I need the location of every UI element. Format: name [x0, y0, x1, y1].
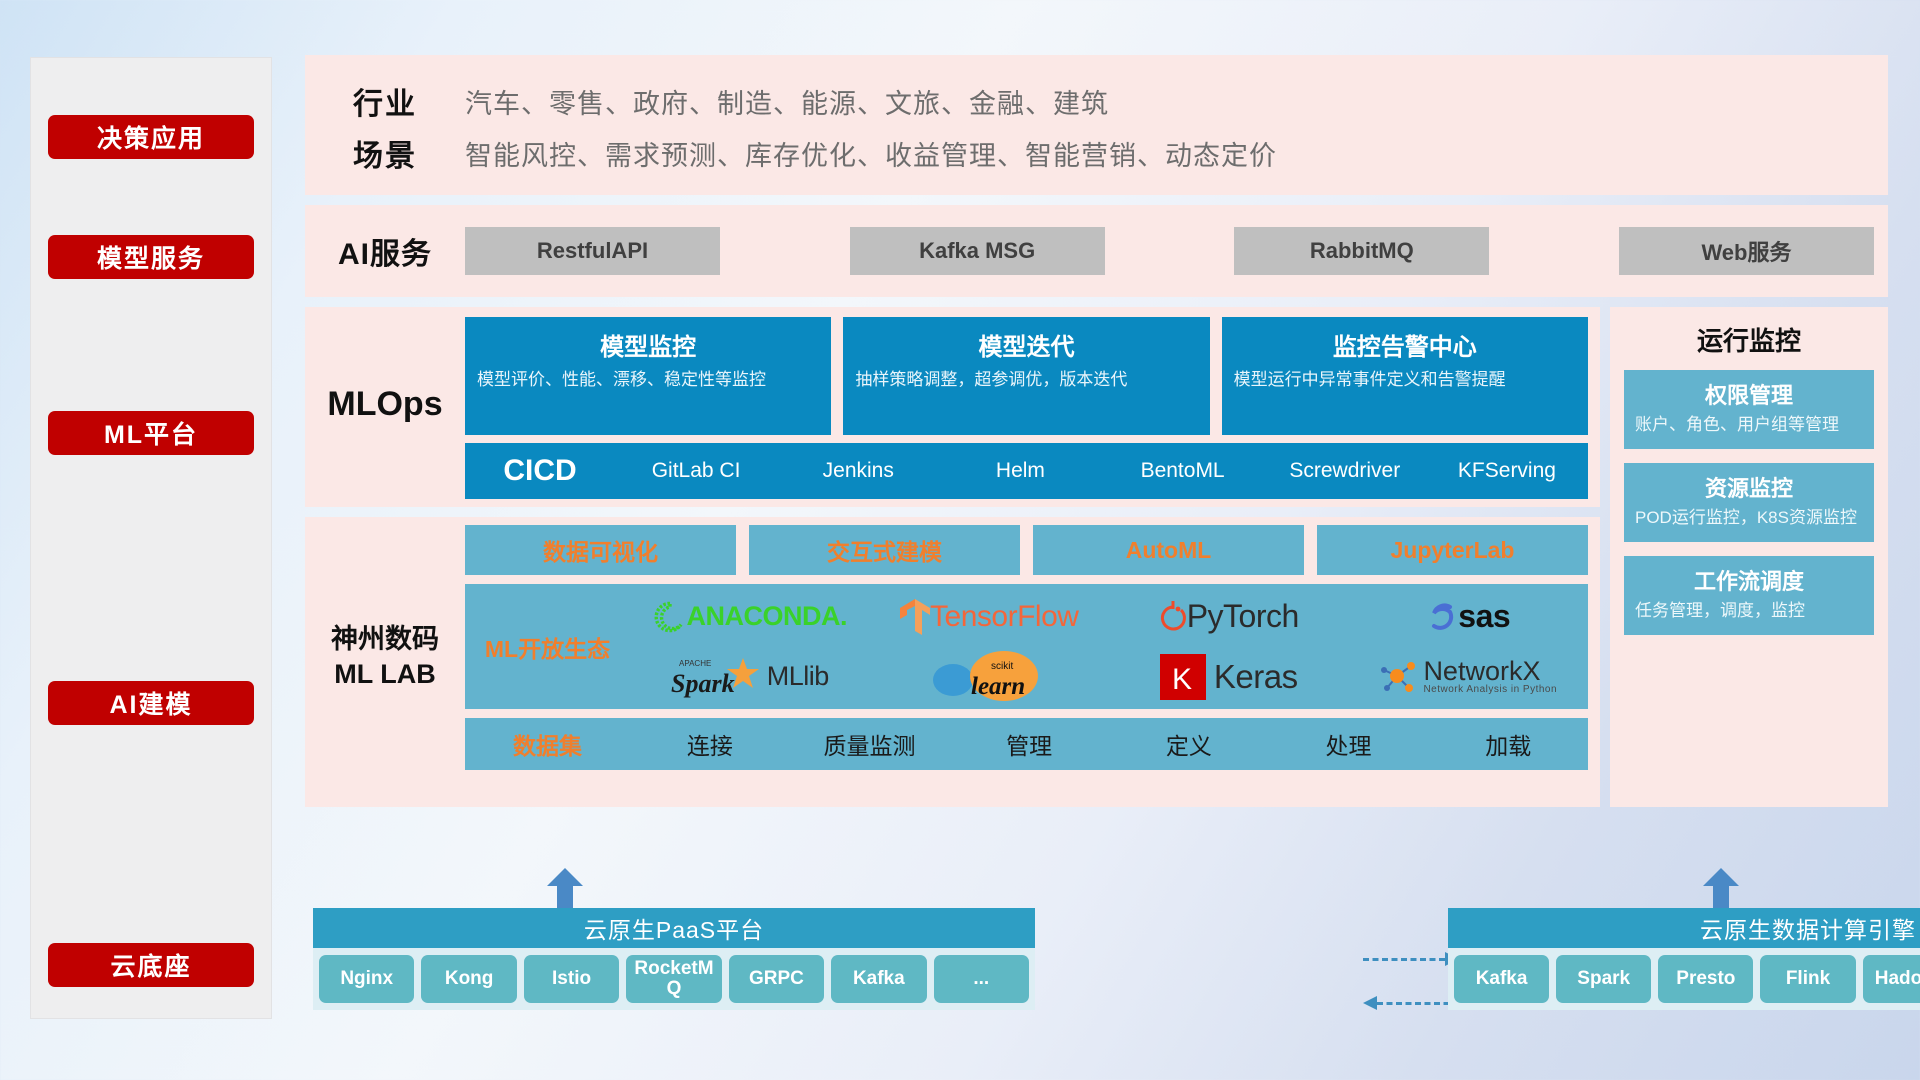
cicd-bar: CICD GitLab CI Jenkins Helm BentoML Scre…: [465, 443, 1588, 499]
rail-label: ML平台: [104, 415, 198, 451]
pytorch-logo: PyTorch: [1109, 587, 1349, 647]
ml-ecosystem-logos: ANACONDA. TensorFlow: [630, 587, 1588, 707]
cicd-title: CICD: [465, 454, 615, 488]
cloud-paas-items: Nginx Kong Istio RocketMQ GRPC Kafka ...: [313, 948, 1035, 1010]
ai-service-chip-web[interactable]: Web服务: [1619, 227, 1874, 275]
spark-mark-icon: APACHE Spark: [671, 654, 763, 700]
rail-label: AI建模: [109, 685, 192, 721]
data-chip-flink[interactable]: Flink: [1760, 955, 1855, 1003]
runtime-monitor-panel: 运行监控 权限管理 账户、角色、用户组等管理 资源监控 POD运行监控，K8S资…: [1610, 307, 1888, 807]
mllib-wordmark: MLlib: [767, 661, 829, 692]
networkx-tagline: Network Analysis in Python: [1423, 685, 1557, 696]
mlops-and-monitor-row: MLOps 模型监控 模型评价、性能、漂移、稳定性等监控 模型迭代 抽样策略调整…: [305, 307, 1888, 807]
ai-service-chip-rabbitmq[interactable]: RabbitMQ: [1234, 227, 1489, 275]
card-title: 模型监控: [477, 327, 819, 362]
cicd-item-jenkins[interactable]: Jenkins: [777, 460, 939, 482]
tool-chip-jupyterlab[interactable]: JupyterLab: [1317, 525, 1588, 575]
dataset-label: 数据集: [465, 727, 630, 761]
keras-mark-icon: K: [1160, 654, 1206, 700]
card-title: 权限管理: [1635, 378, 1863, 410]
mlops-content: 模型监控 模型评价、性能、漂移、稳定性等监控 模型迭代 抽样策略调整，超参调优，…: [465, 307, 1600, 509]
scikit-learn-logo: scikit learn: [870, 647, 1110, 707]
card-title: 模型迭代: [855, 327, 1197, 362]
cicd-item-screwdriver[interactable]: Screwdriver: [1264, 460, 1426, 482]
mlops-card-model-monitoring[interactable]: 模型监控 模型评价、性能、漂移、稳定性等监控: [465, 317, 831, 435]
ai-service-items: RestfulAPI Kafka MSG RabbitMQ Web服务: [465, 227, 1888, 275]
ai-service-band: AI服务 RestfulAPI Kafka MSG RabbitMQ Web服务: [305, 205, 1888, 297]
cicd-item-gitlab-ci[interactable]: GitLab CI: [615, 460, 777, 482]
cicd-item-bentoml[interactable]: BentoML: [1102, 460, 1264, 482]
cloud-foundation-zone: 云原生PaaS平台 Nginx Kong Istio RocketMQ GRPC…: [305, 880, 1915, 1060]
cicd-item-helm[interactable]: Helm: [939, 460, 1101, 482]
networkx-mark-icon: [1379, 658, 1419, 696]
dataset-item-load[interactable]: 加载: [1428, 727, 1588, 761]
sas-logo: sas: [1349, 587, 1589, 647]
anaconda-wordmark: ANACONDA.: [687, 601, 848, 632]
ml-ecosystem-row: ML开放生态 ANACONDA.: [465, 584, 1588, 709]
cloud-data-engine-items: Kafka Spark Presto Flink Hadoop Storm ..…: [1448, 948, 1920, 1010]
ai-service-chip-kafka-msg[interactable]: Kafka MSG: [850, 227, 1105, 275]
ai-service-label: AI服务: [305, 229, 465, 273]
rail-item-model-service[interactable]: 模型服务: [48, 235, 254, 279]
scenario-value: 智能风控、需求预测、库存优化、收益管理、智能营销、动态定价: [465, 134, 1277, 173]
main-stack: 行业 汽车、零售、政府、制造、能源、文旅、金融、建筑 场景 智能风控、需求预测、…: [305, 55, 1888, 807]
card-desc: 抽样策略调整，超参调优，版本迭代: [855, 369, 1197, 392]
card-desc: 账户、角色、用户组等管理: [1635, 414, 1863, 437]
data-chip-spark[interactable]: Spark: [1556, 955, 1651, 1003]
ml-lab-label-line2: ML LAB: [305, 657, 465, 692]
card-desc: POD运行监控，K8S资源监控: [1635, 507, 1863, 530]
industry-value: 汽车、零售、政府、制造、能源、文旅、金融、建筑: [465, 82, 1109, 121]
data-chip-presto[interactable]: Presto: [1658, 955, 1753, 1003]
mlops-card-model-iteration[interactable]: 模型迭代 抽样策略调整，超参调优，版本迭代: [843, 317, 1209, 435]
rail-item-decision-app[interactable]: 决策应用: [48, 115, 254, 159]
dataset-item-quality-monitoring[interactable]: 质量监测: [790, 727, 950, 761]
card-title: 监控告警中心: [1234, 327, 1576, 362]
mlops-card-alert-center[interactable]: 监控告警中心 模型运行中异常事件定义和告警提醒: [1222, 317, 1588, 435]
card-desc: 模型运行中异常事件定义和告警提醒: [1234, 369, 1576, 392]
cicd-item-list: GitLab CI Jenkins Helm BentoML Screwdriv…: [615, 460, 1588, 482]
anaconda-logo: ANACONDA.: [630, 587, 870, 647]
tensorflow-mark-icon: [900, 599, 930, 635]
monitor-card-permission[interactable]: 权限管理 账户、角色、用户组等管理: [1624, 370, 1874, 449]
rail-label: 决策应用: [97, 119, 205, 155]
rail-item-ml-platform[interactable]: ML平台: [48, 411, 254, 455]
cloud-chip-kong[interactable]: Kong: [421, 955, 516, 1003]
rail-item-cloud-foundation[interactable]: 云底座: [48, 943, 254, 987]
industry-key: 行业: [305, 79, 465, 123]
mlops-card-list: 模型监控 模型评价、性能、漂移、稳定性等监控 模型迭代 抽样策略调整，超参调优，…: [465, 317, 1588, 435]
card-desc: 任务管理，调度，监控: [1635, 600, 1863, 623]
pytorch-mark-icon: [1159, 601, 1187, 633]
data-chip-kafka[interactable]: Kafka: [1454, 955, 1549, 1003]
anaconda-mark-icon: [653, 600, 687, 634]
scenario-row: 场景 智能风控、需求预测、库存优化、收益管理、智能营销、动态定价: [305, 127, 1888, 179]
tensorflow-logo: TensorFlow: [870, 587, 1110, 647]
ml-lab-tool-row: 数据可视化 交互式建模 AutoML JupyterLab: [465, 525, 1588, 575]
rail-label: 云底座: [110, 947, 191, 983]
ml-lab-label-line1: 神州数码: [305, 622, 465, 657]
cloud-chip-istio[interactable]: Istio: [524, 955, 619, 1003]
keras-logo: K Keras: [1109, 647, 1349, 707]
dataset-item-list: 连接 质量监测 管理 定义 处理 加载: [630, 727, 1588, 761]
ai-service-chip-restfulapi[interactable]: RestfulAPI: [465, 227, 720, 275]
dataset-item-connect[interactable]: 连接: [630, 727, 790, 761]
data-chip-hadoop[interactable]: Hadoop: [1863, 955, 1920, 1003]
dataset-item-process[interactable]: 处理: [1269, 727, 1429, 761]
dashed-arrow-right-icon: [1363, 958, 1459, 960]
svg-text:K: K: [1172, 663, 1192, 696]
cicd-item-kfserving[interactable]: KFServing: [1426, 460, 1588, 482]
spark-mllib-logo: APACHE Spark MLlib: [630, 647, 870, 707]
tensorflow-wordmark: TensorFlow: [930, 600, 1078, 634]
dataset-row: 数据集 连接 质量监测 管理 定义 处理 加载: [465, 718, 1588, 770]
svg-text:APACHE: APACHE: [679, 659, 711, 668]
cloud-chip-grpc[interactable]: GRPC: [729, 955, 824, 1003]
tool-chip-automl[interactable]: AutoML: [1033, 525, 1304, 575]
sas-wordmark: sas: [1458, 598, 1510, 635]
card-title: 工作流调度: [1635, 564, 1863, 596]
cloud-chip-kafka[interactable]: Kafka: [831, 955, 926, 1003]
svg-text:Spark: Spark: [671, 669, 735, 698]
cloud-chip-more[interactable]: ...: [934, 955, 1029, 1003]
architecture-diagram: 决策应用 模型服务 ML平台 AI建模 云底座 行业 汽车、零售、政府、制造、能…: [0, 0, 1920, 1080]
dashed-arrow-left-icon: [1363, 1002, 1459, 1004]
sas-mark-icon: [1426, 601, 1458, 633]
runtime-monitor-title: 运行监控: [1624, 321, 1874, 358]
cloud-native-paas-group: 云原生PaaS平台 Nginx Kong Istio RocketMQ GRPC…: [313, 908, 1035, 1010]
ml-lab-band: 神州数码 ML LAB 数据可视化 交互式建模 AutoML JupyterLa…: [305, 517, 1600, 807]
tool-chip-interactive-modeling[interactable]: 交互式建模: [749, 525, 1020, 575]
ml-lab-label: 神州数码 ML LAB: [305, 517, 465, 692]
cloud-chip-rocketmq[interactable]: RocketMQ: [626, 955, 721, 1003]
pytorch-wordmark: PyTorch: [1187, 598, 1299, 635]
networkx-wordmark: NetworkX: [1423, 657, 1557, 685]
layer-rail: 决策应用 模型服务 ML平台 AI建模 云底座: [31, 58, 271, 1018]
rail-label: 模型服务: [97, 239, 205, 275]
dataset-item-manage[interactable]: 管理: [949, 727, 1109, 761]
cloud-data-engine-title: 云原生数据计算引擎: [1448, 908, 1920, 948]
monitor-card-workflow[interactable]: 工作流调度 任务管理，调度，监控: [1624, 556, 1874, 635]
cloud-paas-title: 云原生PaaS平台: [313, 908, 1035, 948]
mlops-band: MLOps 模型监控 模型评价、性能、漂移、稳定性等监控 模型迭代 抽样策略调整…: [305, 307, 1600, 507]
dataset-item-define[interactable]: 定义: [1109, 727, 1269, 761]
card-desc: 模型评价、性能、漂移、稳定性等监控: [477, 369, 819, 392]
monitor-card-resource[interactable]: 资源监控 POD运行监控，K8S资源监控: [1624, 463, 1874, 542]
mlops-label: MLOps: [305, 307, 465, 424]
industry-scenario-band: 行业 汽车、零售、政府、制造、能源、文旅、金融、建筑 场景 智能风控、需求预测、…: [305, 55, 1888, 195]
ml-lab-content: 数据可视化 交互式建模 AutoML JupyterLab ML开放生态: [465, 517, 1600, 780]
svg-text:learn: learn: [971, 673, 1025, 700]
cloud-native-data-engine-group: 云原生数据计算引擎 Kafka Spark Presto Flink Hadoo…: [1448, 908, 1920, 1010]
keras-wordmark: Keras: [1214, 658, 1298, 696]
industry-row: 行业 汽车、零售、政府、制造、能源、文旅、金融、建筑: [305, 75, 1888, 127]
rail-item-ai-modeling[interactable]: AI建模: [48, 681, 254, 725]
tool-chip-data-visualization[interactable]: 数据可视化: [465, 525, 736, 575]
card-title: 资源监控: [1635, 471, 1863, 503]
up-arrow-data-engine-icon: [1703, 868, 1739, 908]
scenario-key: 场景: [305, 131, 465, 175]
up-arrow-paas-icon: [547, 868, 583, 908]
scikit-learn-mark-icon: scikit learn: [961, 650, 1047, 704]
svg-text:scikit: scikit: [991, 661, 1013, 672]
networkx-logo: NetworkX Network Analysis in Python: [1349, 647, 1589, 707]
ml-ecosystem-label: ML开放生态: [465, 630, 630, 664]
cloud-chip-nginx[interactable]: Nginx: [319, 955, 414, 1003]
